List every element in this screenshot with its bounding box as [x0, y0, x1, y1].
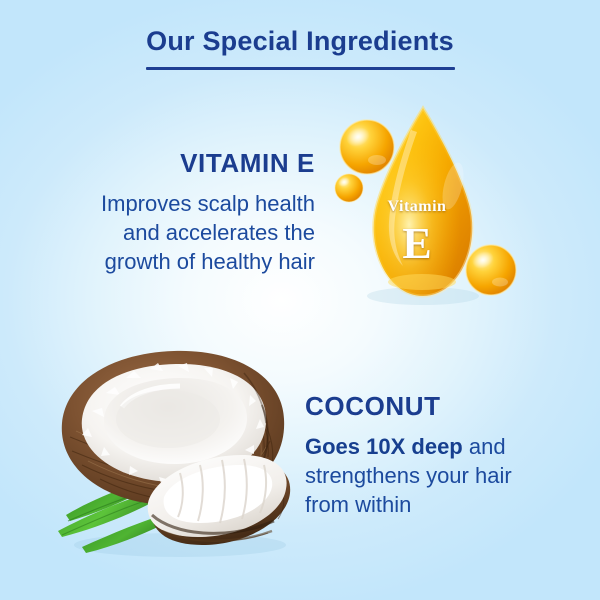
- page-title: Our Special Ingredients: [0, 28, 600, 55]
- oil-bubble-small: [335, 174, 363, 202]
- oil-bubble-right: [466, 245, 516, 295]
- ingredient-desc-line-3: growth of healthy hair: [40, 247, 315, 276]
- ingredient-heading-vitamin-e: VITAMIN E: [40, 150, 315, 176]
- ingredient-desc-emphasis: Goes 10X deep: [305, 434, 463, 459]
- ingredient-block-vitamin-e: VITAMIN E Improves scalp health and acce…: [40, 150, 315, 276]
- ingredient-block-coconut: COCONUT Goes 10X deep and strengthens yo…: [305, 393, 585, 519]
- ingredients-poster: Our Special Ingredients: [0, 0, 600, 600]
- oil-droplet-illustration: Vitamin E: [325, 100, 525, 305]
- ingredient-desc-line-2: and accelerates the: [40, 218, 315, 247]
- ingredient-desc-line-2: strengthens your hair: [305, 461, 585, 490]
- title-underline-divider: [146, 67, 455, 70]
- ingredient-desc-line-1: Goes 10X deep and: [305, 432, 585, 461]
- page-title-block: Our Special Ingredients: [0, 28, 600, 70]
- coconut-illustration: [48, 345, 303, 560]
- oil-bubble-large: [340, 120, 394, 174]
- ingredient-desc-tail: and: [463, 434, 506, 459]
- ingredient-desc-line-3: from within: [305, 490, 585, 519]
- ingredient-desc-line-1: Improves scalp health: [40, 189, 315, 218]
- ingredient-heading-coconut: COCONUT: [305, 393, 585, 419]
